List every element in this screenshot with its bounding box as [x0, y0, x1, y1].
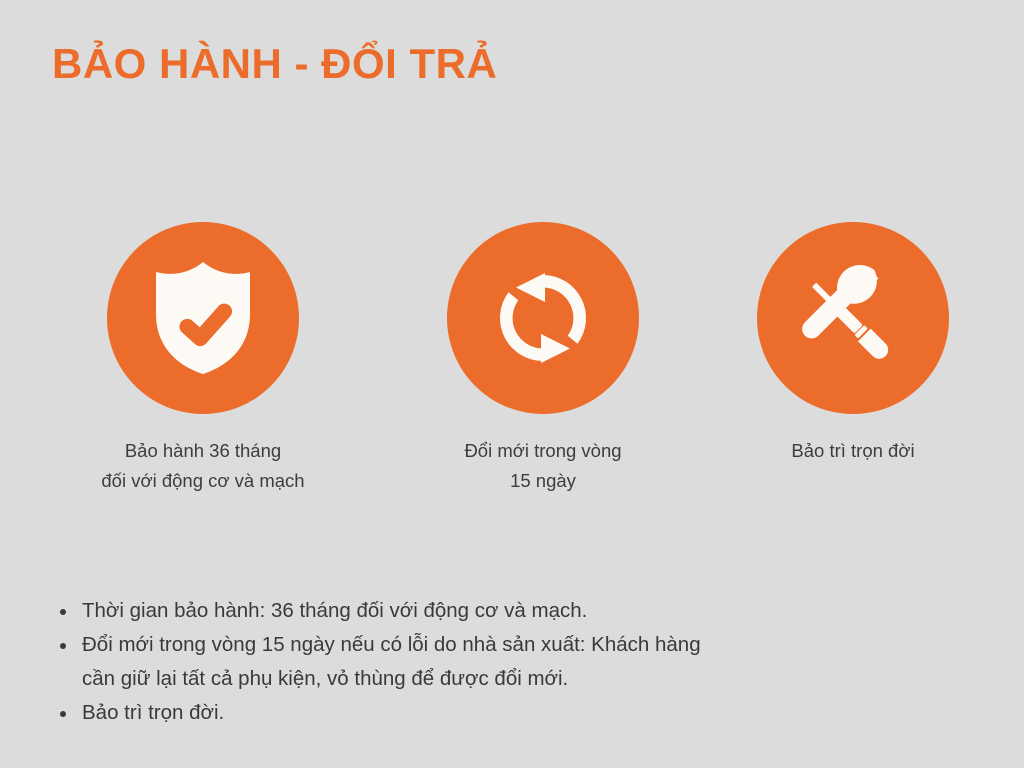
wrench-screwdriver-icon [794, 259, 912, 377]
bullet-line: cần giữ lại tất cả phụ kiện, vỏ thùng để… [82, 662, 976, 696]
caption-line: Bảo trì trọn đời [703, 436, 1003, 466]
list-item: Thời gian bảo hành: 36 tháng đối với độn… [56, 594, 976, 628]
exchange-refresh-icon [485, 260, 601, 376]
feature-caption-warranty: Bảo hành 36 tháng đối với động cơ và mạc… [53, 436, 353, 496]
icon-badge-maintenance [757, 222, 949, 414]
caption-line: Bảo hành 36 tháng [53, 436, 353, 466]
icon-badge-exchange [447, 222, 639, 414]
list-item: Đổi mới trong vòng 15 ngày nếu có lỗi do… [56, 628, 976, 696]
feature-caption-exchange: Đổi mới trong vòng 15 ngày [393, 436, 693, 496]
feature-item-exchange: Đổi mới trong vòng 15 ngày [393, 222, 693, 496]
policy-bullet-list: Thời gian bảo hành: 36 tháng đối với độn… [56, 594, 976, 730]
feature-item-warranty: Bảo hành 36 tháng đối với động cơ và mạc… [53, 222, 353, 496]
caption-line: 15 ngày [393, 466, 693, 496]
caption-line: đối với động cơ và mạch [53, 466, 353, 496]
slide-root: BẢO HÀNH - ĐỔI TRẢ Bảo hành 36 tháng đối… [0, 0, 1024, 768]
bullet-line: Bảo trì trọn đời. [82, 696, 976, 730]
caption-line: Đổi mới trong vòng [393, 436, 693, 466]
list-item: Bảo trì trọn đời. [56, 696, 976, 730]
bullet-line: Đổi mới trong vòng 15 ngày nếu có lỗi do… [82, 628, 976, 662]
page-title: BẢO HÀNH - ĐỔI TRẢ [52, 38, 497, 90]
feature-item-maintenance: Bảo trì trọn đời [703, 222, 1003, 466]
icon-badge-warranty [107, 222, 299, 414]
bullet-line: Thời gian bảo hành: 36 tháng đối với độn… [82, 594, 976, 628]
feature-caption-maintenance: Bảo trì trọn đời [703, 436, 1003, 466]
shield-check-icon [148, 259, 258, 377]
feature-row: Bảo hành 36 tháng đối với động cơ và mạc… [0, 222, 1024, 512]
